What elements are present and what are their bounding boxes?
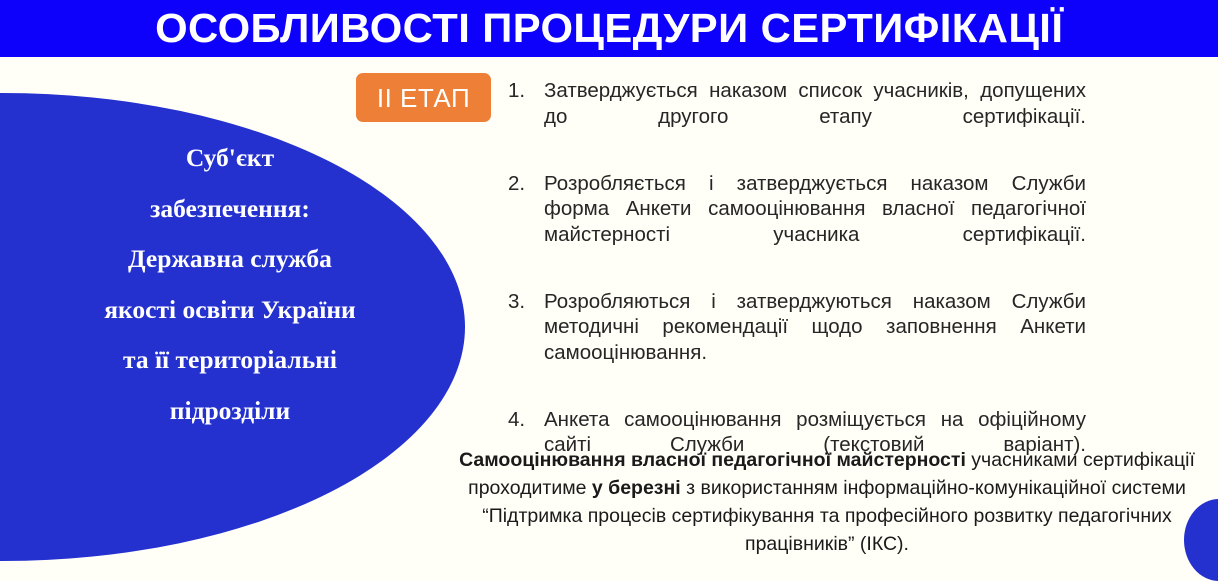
- page-title: ОСОБЛИВОСТІ ПРОЦЕДУРИ СЕРТИФІКАЦІЇ: [155, 8, 1063, 49]
- list-item: 2. Розробляється і затверджується наказо…: [508, 171, 1086, 273]
- stage-badge-label: II ЕТАП: [377, 85, 470, 111]
- step-number: 2.: [508, 171, 544, 197]
- list-item: 1. Затверджується наказом список учасник…: [508, 78, 1086, 155]
- step-number: 1.: [508, 78, 544, 104]
- step-number: 3.: [508, 289, 544, 315]
- slide-canvas: ОСОБЛИВОСТІ ПРОЦЕДУРИ СЕРТИФІКАЦІЇ Суб'є…: [0, 0, 1218, 581]
- subject-panel: Суб'єкт забезпечення: Державна служба як…: [0, 93, 465, 561]
- footnote-bold-1: Самооцінювання власної педагогічної майс…: [459, 449, 966, 471]
- footnote-bold-2: у березні: [592, 477, 681, 499]
- slide-title-bar: ОСОБЛИВОСТІ ПРОЦЕДУРИ СЕРТИФІКАЦІЇ: [0, 0, 1218, 57]
- subject-line-5: та її територіальні: [28, 347, 432, 373]
- step-text: Розробляються і затверджуються наказом С…: [544, 289, 1086, 391]
- subject-line-3: Державна служба: [28, 246, 432, 272]
- step-text: Розробляється і затверджується наказом С…: [544, 171, 1086, 273]
- step-number: 4.: [508, 407, 544, 433]
- subject-line-4: якості освіти України: [28, 297, 432, 323]
- subject-line-6: підрозділи: [28, 398, 432, 424]
- subject-panel-text: Суб'єкт забезпечення: Державна служба як…: [10, 93, 450, 561]
- list-item: 3. Розробляються і затверджуються наказо…: [508, 289, 1086, 391]
- stage-badge: II ЕТАП: [356, 73, 491, 122]
- subject-line-1: Суб'єкт: [28, 145, 432, 171]
- step-text: Затверджується наказом список учасників,…: [544, 78, 1086, 155]
- footnote-paragraph: Самооцінювання власної педагогічної майс…: [446, 446, 1208, 558]
- subject-line-2: забезпечення:: [28, 196, 432, 222]
- steps-list: 1. Затверджується наказом список учасник…: [508, 78, 1086, 499]
